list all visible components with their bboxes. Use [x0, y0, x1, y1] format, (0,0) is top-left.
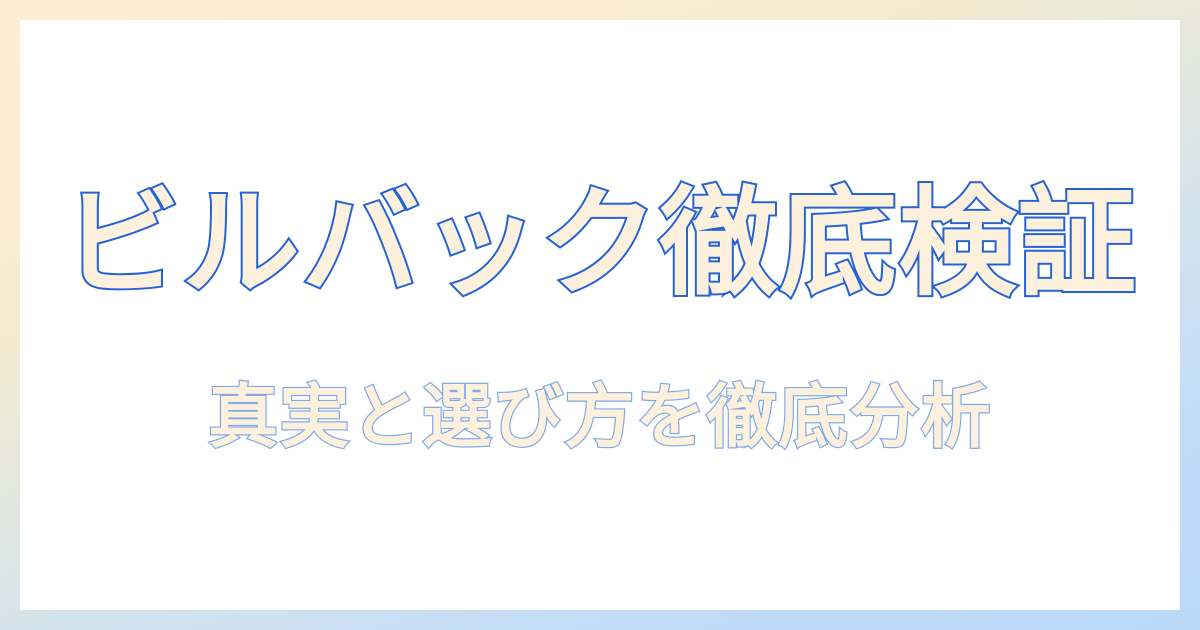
- card-canvas: ビルバック徹底検証 真実と選び方を徹底分析: [20, 20, 1180, 610]
- eyecatch-card: ビルバック徹底検証 真実と選び方を徹底分析: [0, 0, 1200, 630]
- title-subtitle-spacer: [600, 312, 601, 376]
- text-stack: ビルバック徹底検証 真実と選び方を徹底分析: [20, 20, 1180, 610]
- card-title: ビルバック徹底検証: [63, 175, 1138, 312]
- card-subtitle: 真実と選び方を徹底分析: [208, 376, 992, 459]
